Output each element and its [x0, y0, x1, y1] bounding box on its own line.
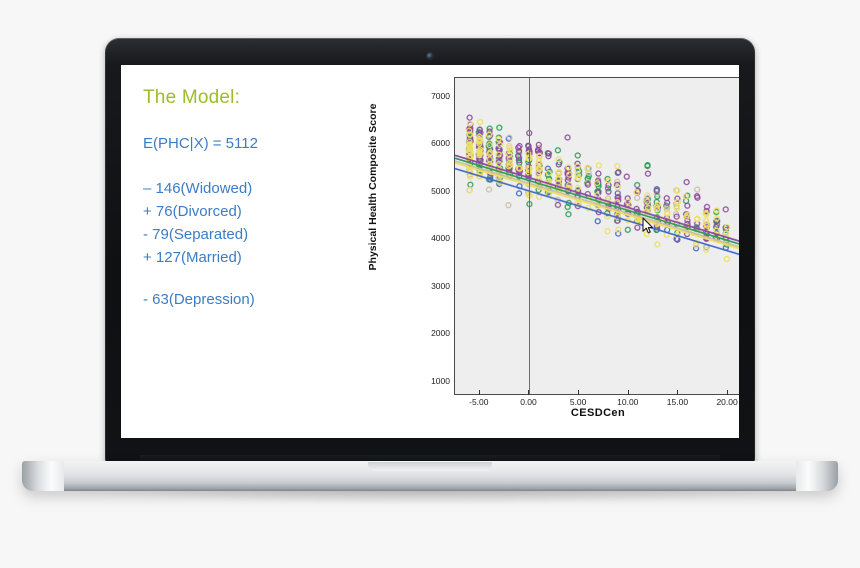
x-tick-label: 20.00 — [702, 397, 739, 407]
webcam-icon — [427, 53, 433, 59]
laptop-screen: The Model: E(PHC|X) = 5112 – 146(Widowed… — [121, 65, 739, 438]
spss-scatterplot: Physical Health Composite Score 10002000… — [320, 71, 732, 423]
x-tick-label: 15.00 — [652, 397, 702, 407]
x-tick-mark — [628, 390, 629, 395]
equation-terms: – 146(Widowed) + 76(Divorced) - 79(Separ… — [143, 178, 313, 268]
zero-reference-line — [529, 78, 530, 394]
x-tick-mark — [727, 390, 728, 395]
y-tick-label: 3000 — [406, 281, 450, 291]
y-tick-label: 2000 — [406, 328, 450, 338]
x-tick-label: -5.00 — [454, 397, 504, 407]
y-tick-label: 4000 — [406, 233, 450, 243]
equation-term-married: + 127(Married) — [143, 247, 313, 268]
x-tick-mark — [578, 390, 579, 395]
laptop-base — [22, 461, 838, 491]
y-tick-label: 7000 — [406, 91, 450, 101]
plot-area — [454, 77, 739, 395]
y-axis-ticks: 1000200030004000500060007000 — [400, 77, 450, 395]
page-title: The Model: — [143, 87, 313, 109]
equation-intercept: E(PHC|X) = 5112 — [143, 133, 313, 154]
x-tick-mark — [677, 390, 678, 395]
laptop-lid: The Model: E(PHC|X) = 5112 – 146(Widowed… — [105, 38, 755, 463]
x-tick-label: 0.00 — [503, 397, 553, 407]
x-tick-label: 10.00 — [603, 397, 653, 407]
scatter-canvas — [455, 78, 739, 394]
equation-term-depression: - 63(Depression) — [143, 289, 313, 310]
x-tick-mark — [528, 390, 529, 395]
presentation-slide: The Model: E(PHC|X) = 5112 – 146(Widowed… — [121, 65, 739, 438]
base-lid-notch — [368, 462, 492, 471]
y-axis-label: Physical Health Composite Score — [367, 72, 379, 302]
x-axis-label: CESDCen — [454, 407, 739, 419]
equation-term-widowed: – 146(Widowed) — [143, 178, 313, 199]
x-tick-mark — [479, 390, 480, 395]
equation-term-divorced: + 76(Divorced) — [143, 201, 313, 222]
y-tick-label: 6000 — [406, 138, 450, 148]
y-tick-label: 5000 — [406, 186, 450, 196]
mouse-pointer-icon — [642, 217, 655, 235]
model-text-block: The Model: E(PHC|X) = 5112 – 146(Widowed… — [143, 87, 313, 310]
equation-term-separated: - 79(Separated) — [143, 224, 313, 245]
y-tick-label: 1000 — [406, 376, 450, 386]
x-tick-label: 5.00 — [553, 397, 603, 407]
laptop-device: The Model: E(PHC|X) = 5112 – 146(Widowed… — [0, 0, 860, 568]
base-left-edge — [22, 461, 64, 491]
base-right-edge — [796, 461, 838, 491]
